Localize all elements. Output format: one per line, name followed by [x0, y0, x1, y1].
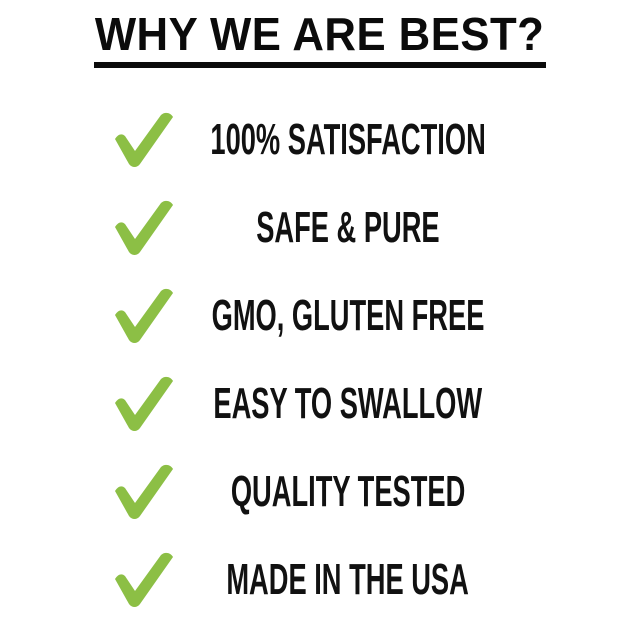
list-item: SAFE & PURE	[0, 184, 640, 272]
list-item: GMO, GLUTEN FREE	[0, 272, 640, 360]
list-item-label-wrap: MADE IN THE USA	[186, 556, 510, 604]
list-item-label: QUALITY TESTED	[231, 469, 465, 515]
list-item: EASY TO SWALLOW	[0, 360, 640, 448]
list-item-label: MADE IN THE USA	[227, 557, 469, 603]
poster-header: WHY WE ARE BEST?	[0, 8, 640, 68]
list-item-label-wrap: EASY TO SWALLOW	[186, 380, 510, 428]
list-item-label-wrap: SAFE & PURE	[186, 204, 510, 252]
check-icon	[108, 110, 180, 170]
list-item-label: SAFE & PURE	[256, 205, 439, 251]
check-icon	[108, 462, 180, 522]
check-icon	[108, 286, 180, 346]
list-item-label: EASY TO SWALLOW	[214, 381, 483, 427]
title-underline	[94, 62, 546, 68]
list-item-label: 100% SATISFACTION	[210, 117, 485, 163]
benefits-poster: WHY WE ARE BEST? 100% SATISFACTION SAFE …	[0, 0, 640, 640]
check-icon	[108, 198, 180, 258]
list-item: 100% SATISFACTION	[0, 96, 640, 184]
page-title: WHY WE ARE BEST?	[95, 8, 544, 60]
list-item: MADE IN THE USA	[0, 536, 640, 624]
list-item: QUALITY TESTED	[0, 448, 640, 536]
check-icon	[108, 550, 180, 610]
list-item-label: GMO, GLUTEN FREE	[212, 293, 485, 339]
list-item-label-wrap: QUALITY TESTED	[186, 468, 510, 516]
benefits-list: 100% SATISFACTION SAFE & PURE GMO, GLUTE…	[0, 96, 640, 624]
list-item-label-wrap: GMO, GLUTEN FREE	[186, 292, 510, 340]
check-icon	[108, 374, 180, 434]
list-item-label-wrap: 100% SATISFACTION	[186, 116, 510, 164]
